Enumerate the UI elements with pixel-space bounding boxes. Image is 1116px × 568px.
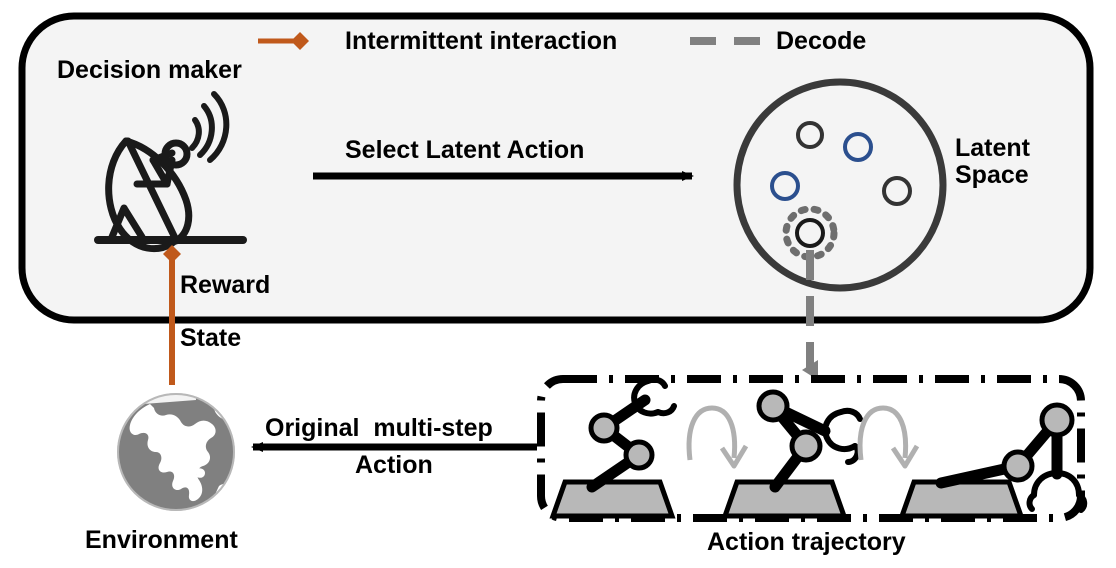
robot-gripper-1 xyxy=(634,380,674,414)
reward-label: Reward xyxy=(180,272,270,299)
select-latent-action-label: Select Latent Action xyxy=(345,137,584,164)
globe-icon xyxy=(114,392,239,540)
diagram-canvas: Intermittent interaction Decode Decision… xyxy=(0,0,1116,568)
rotate-arrow-icon-1 xyxy=(689,408,746,466)
diagram-svg xyxy=(0,0,1116,568)
robot-joint-1a xyxy=(591,415,617,441)
legend-label-decode: Decode xyxy=(776,28,866,55)
robot-gripper-2 xyxy=(825,411,860,462)
robot-base-2 xyxy=(725,482,844,516)
robot-joint-2a xyxy=(759,392,787,420)
robot-arm-pose-2 xyxy=(725,392,860,516)
action-trajectory-label: Action trajectory xyxy=(707,529,906,556)
robot-joint-3a xyxy=(1004,452,1032,480)
original-action-label-line2: Action xyxy=(355,452,433,479)
latent-space-label: LatentSpace xyxy=(955,135,1030,189)
robot-arm-pose-1 xyxy=(553,380,674,516)
legend-label-intermittent-interaction: Intermittent interaction xyxy=(345,28,617,55)
robot-joint-3b xyxy=(1042,405,1072,435)
robot-joint-1b xyxy=(626,442,652,468)
robot-base-3 xyxy=(902,482,1021,516)
robot-base-1 xyxy=(553,482,672,516)
latent-space-label-line2: Space xyxy=(955,161,1029,189)
decision-maker-title: Decision maker xyxy=(57,57,242,84)
original-action-label-line1: Original multi-step xyxy=(265,415,493,442)
robot-arm-pose-3 xyxy=(902,405,1084,516)
environment-label: Environment xyxy=(85,527,238,554)
robot-joint-2b xyxy=(792,432,820,460)
latent-space-label-line1: Latent xyxy=(955,134,1030,162)
rotate-arrow-icon-2 xyxy=(860,408,917,466)
state-label: State xyxy=(180,325,241,352)
